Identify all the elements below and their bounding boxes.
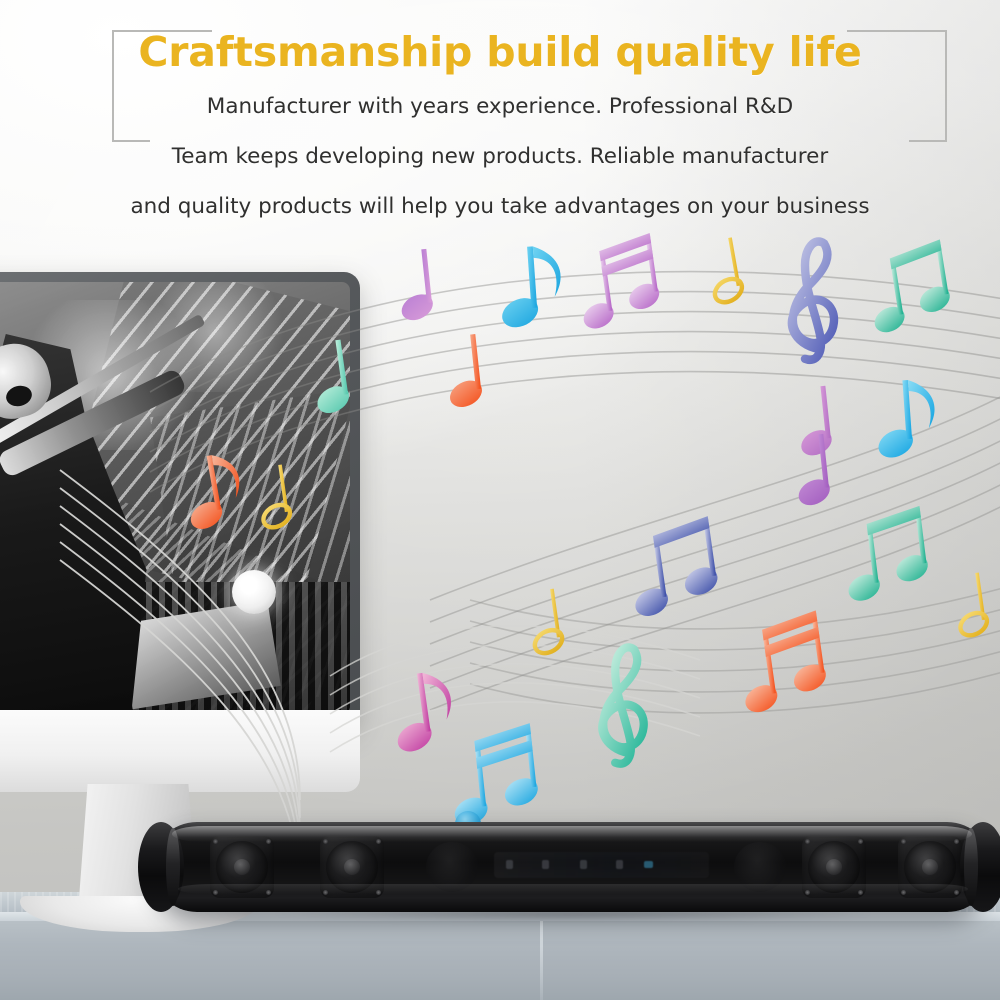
tagline-line-2: Team keeps developing new products. Reli…: [0, 144, 1000, 169]
staff-line: [430, 502, 1000, 710]
music-note-beamed-pair: [863, 239, 954, 334]
music-note-quarter-note: [795, 386, 833, 457]
note-part: [888, 239, 943, 269]
tagline-line-1: Manufacturer with years experience. Prof…: [0, 94, 1000, 119]
music-note-quarter-note: [395, 249, 434, 322]
note-part: [959, 612, 989, 637]
end-cap-ring-left: [166, 828, 180, 906]
music-note-eighth-note: [874, 378, 938, 458]
note-part: [602, 647, 643, 763]
music-note-half-note: [256, 464, 292, 528]
music-notes-layer: [180, 233, 988, 826]
music-note-half-note: [706, 237, 745, 304]
note-part: [262, 504, 292, 529]
note-part: [792, 241, 834, 359]
soundbar-highlight: [172, 826, 972, 842]
note-part: [533, 245, 562, 299]
staff-line: [150, 372, 1000, 492]
music-note-beamed-double: [446, 723, 541, 826]
music-note-eighth-note: [180, 451, 246, 531]
staff-line: [150, 352, 1000, 472]
bracket-bottom-right-h: [909, 140, 947, 142]
music-note-beamed-double: [734, 610, 830, 714]
note-part: [713, 277, 744, 303]
bracket-bottom-left-h: [112, 140, 150, 142]
page-title: Craftsmanship build quality life: [0, 28, 1000, 76]
note-part: [533, 629, 564, 655]
music-note-eighth-note: [497, 245, 564, 329]
music-note-beamed-pair: [624, 516, 721, 618]
tagline-line-3: and quality products will help you take …: [0, 194, 1000, 219]
soundbar-lower-highlight: [178, 884, 968, 894]
control-panel: [494, 852, 709, 878]
desk-face: [0, 921, 1000, 1000]
staff-line: [330, 664, 700, 714]
staff-line: [60, 488, 300, 818]
music-note-half-note: [953, 572, 989, 636]
desk-seam: [540, 921, 543, 1000]
music-note-beamed-double: [573, 233, 663, 330]
bluetooth-soundbar: [138, 822, 1000, 918]
music-note-beamed-pair: [839, 506, 931, 602]
music-note-treble-clef: [792, 241, 834, 359]
note-part: [651, 516, 711, 548]
end-cap-ring-right: [964, 828, 978, 906]
music-note-treble-clef: [602, 647, 643, 763]
product-marketing-image: Craftsmanship build quality life Manufac…: [0, 0, 1000, 1000]
